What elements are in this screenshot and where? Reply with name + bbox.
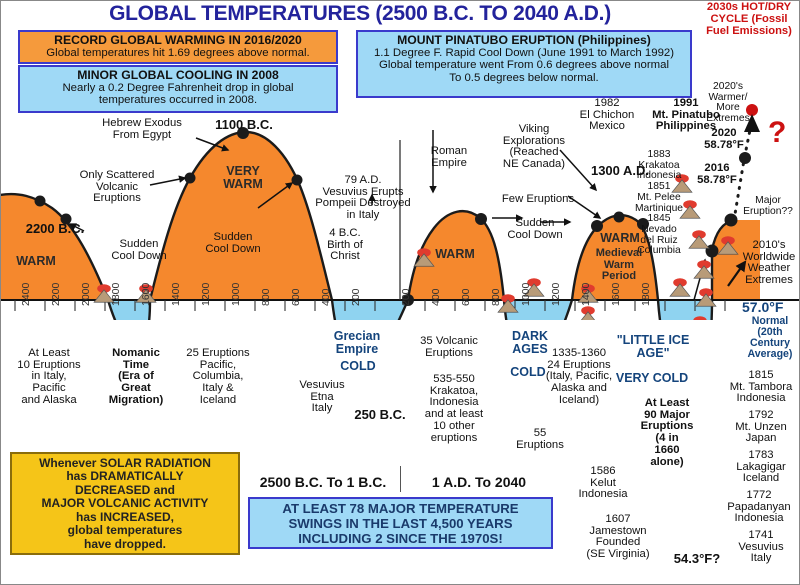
- annotation-peak-1100bc: 1100 B.C.: [196, 118, 292, 132]
- tick-1800: 1800: [110, 283, 122, 306]
- annotation-vesuvius-79ad: 79 A.D. Vesuvius Erupts Pompeii Destroye…: [304, 175, 422, 222]
- annotation-nomanic-time: Nomanic Time (Era of Great Migration): [100, 348, 172, 407]
- tick-1000ad: 1000: [520, 283, 532, 306]
- annotation-peak-2200bc: 2200 B.C.: [5, 222, 105, 236]
- callout-warming-heading: RECORD GLOBAL WARMING IN 2016/2020: [20, 34, 336, 47]
- era-very-warm: VERY WARM: [208, 165, 278, 191]
- period-label-bc: 2500 B.C. To 1 B.C.: [248, 474, 398, 490]
- callout-pinatubo-body: 1.1 Degree F. Rapid Cool Down (June 1991…: [358, 47, 690, 84]
- page-title: GLOBAL TEMPERATURES (2500 B.C. TO 2040 A…: [0, 2, 720, 26]
- tick-1400: 1400: [170, 283, 182, 306]
- annotation-sudden-cool-3: Sudden Cool Down: [492, 218, 578, 241]
- tick-1200: 1200: [200, 283, 212, 306]
- annotation-kelut-1586: 1586 Kelut Indonesia: [570, 466, 636, 501]
- callout-pinatubo-heading: MOUNT PINATUBO ERUPTION (Philippines): [358, 34, 690, 47]
- annotation-krakatoa-535: 535-550 Krakatoa, Indonesia and at least…: [412, 374, 496, 444]
- tick-1000: 1000: [230, 283, 242, 306]
- header-2030s-cycle: 2030s HOT/DRY CYCLE (Fossil Fuel Emissio…: [700, 2, 798, 38]
- annotation-papadanyan-1772: 1772 Papadanyan Indonesia: [718, 490, 800, 525]
- tick-200bc: 200: [350, 288, 362, 306]
- annotation-tambora-1815: 1815 Mt. Tambora Indonesia: [722, 370, 800, 405]
- tick-2000: 2000: [80, 283, 92, 306]
- annotation-decade-2010s: 2010's Worldwide Weather Extremes: [738, 240, 800, 287]
- normal-line-value: 57.0°F: [742, 299, 783, 315]
- tick-2400: 2400: [20, 283, 32, 306]
- annotation-few-eruptions: Few Eruptions: [488, 194, 588, 206]
- annotation-jamestown-1607: 1607 Jamestown Founded (SE Virginia): [572, 514, 664, 561]
- era-warm-medieval: WARM: [590, 232, 650, 245]
- period-divider: [400, 466, 401, 492]
- annotation-year-2020: 2020 58.78°F: [692, 128, 756, 151]
- annotation-sudden-cool-1: Sudden Cool Down: [96, 239, 182, 262]
- annotation-major-eruption-q: Major Eruption??: [738, 196, 798, 217]
- annotation-year-2016: 2016 58.78°F: [686, 163, 748, 186]
- annotation-eruptions-1335: 1335-1360 24 Eruptions (Italy, Pacific, …: [530, 348, 628, 407]
- annotation-ninety-major: At Least 90 Major Eruptions (4 in 1660 a…: [634, 398, 700, 468]
- callout-cooling-heading: MINOR GLOBAL COOLING IN 2008: [20, 69, 336, 82]
- tick-1200ad: 1200: [550, 283, 562, 306]
- era-warm-1: WARM: [4, 255, 68, 268]
- tick-1400ad: 1400: [580, 283, 592, 306]
- tick-600ad: 600: [460, 288, 472, 306]
- era-grecian-cold: COLD: [330, 360, 386, 373]
- callout-warming-body: Global temperatures hit 1.69 degrees abo…: [20, 47, 336, 59]
- annotation-low-250bc: 250 B.C.: [344, 408, 416, 422]
- annotation-el-chichon: 1982 El Chichon Mexico: [570, 98, 644, 133]
- era-warm-roman: WARM: [424, 248, 486, 261]
- annotation-25-eruptions: 25 Eruptions Pacific, Columbia, Italy & …: [176, 348, 260, 407]
- annotation-35-volcanic: 35 Volcanic Eruptions: [404, 336, 494, 359]
- tick-200ad: 200: [400, 288, 412, 306]
- annotation-55-eruptions: 55 Eruptions: [508, 428, 572, 451]
- annotation-roman-empire: Roman Empire: [412, 146, 486, 169]
- period-label-ad: 1 A.D. To 2040: [404, 474, 554, 490]
- normal-line-caption: Normal (20th Century Average): [740, 316, 800, 360]
- question-mark-icon: ?: [768, 116, 786, 149]
- annotation-sudden-cool-2: Sudden Cool Down: [188, 232, 278, 255]
- tick-800ad: 800: [490, 288, 502, 306]
- tick-1600ad: 1600: [610, 283, 622, 306]
- tick-400bc: 400: [320, 288, 332, 306]
- annotation-unzen-1792: 1792 Mt. Unzen Japan: [722, 410, 800, 445]
- callout-record-global-warming: RECORD GLOBAL WARMING IN 2016/2020 Globa…: [18, 30, 338, 64]
- annotation-low-543: 54.3°F?: [666, 552, 728, 566]
- annotation-lakagigar-1783: 1783 Lakagigar Iceland: [722, 450, 800, 485]
- callout-temperature-swings: AT LEAST 78 MAJOR TEMPERATURE SWINGS IN …: [248, 497, 553, 549]
- tick-1800ad: 1800: [640, 283, 652, 306]
- tick-1600: 1600: [140, 283, 152, 306]
- annotation-vesuvius-1741: 1741 Vesuvius Italy: [722, 530, 800, 565]
- annotation-hebrew-exodus: Hebrew Exodus From Egypt: [82, 118, 202, 141]
- annotation-warmer-extremes: 2020's Warmer/ More Extremes: [700, 82, 756, 125]
- era-grecian-empire: Grecian Empire: [324, 330, 390, 356]
- callout-mount-pinatubo: MOUNT PINATUBO ERUPTION (Philippines) 1.…: [356, 30, 692, 98]
- annotation-ten-eruptions-italy: At Least 10 Eruptions in Italy, Pacific …: [2, 348, 96, 407]
- tick-2200: 2200: [50, 283, 62, 306]
- tick-400ad: 400: [430, 288, 442, 306]
- tick-600bc: 600: [290, 288, 302, 306]
- annotation-scattered-volcanic: Only Scattered Volcanic Eruptions: [62, 170, 172, 205]
- era-medieval-warm-period: Medieval Warm Period: [586, 248, 652, 283]
- callout-solar-radiation: Whenever SOLAR RADIATION has DRAMATICALL…: [10, 452, 240, 555]
- tick-800bc: 800: [260, 288, 272, 306]
- annotation-birth-of-christ: 4 B.C. Birth of Christ: [310, 228, 380, 263]
- area-below-normal-2: [332, 300, 408, 320]
